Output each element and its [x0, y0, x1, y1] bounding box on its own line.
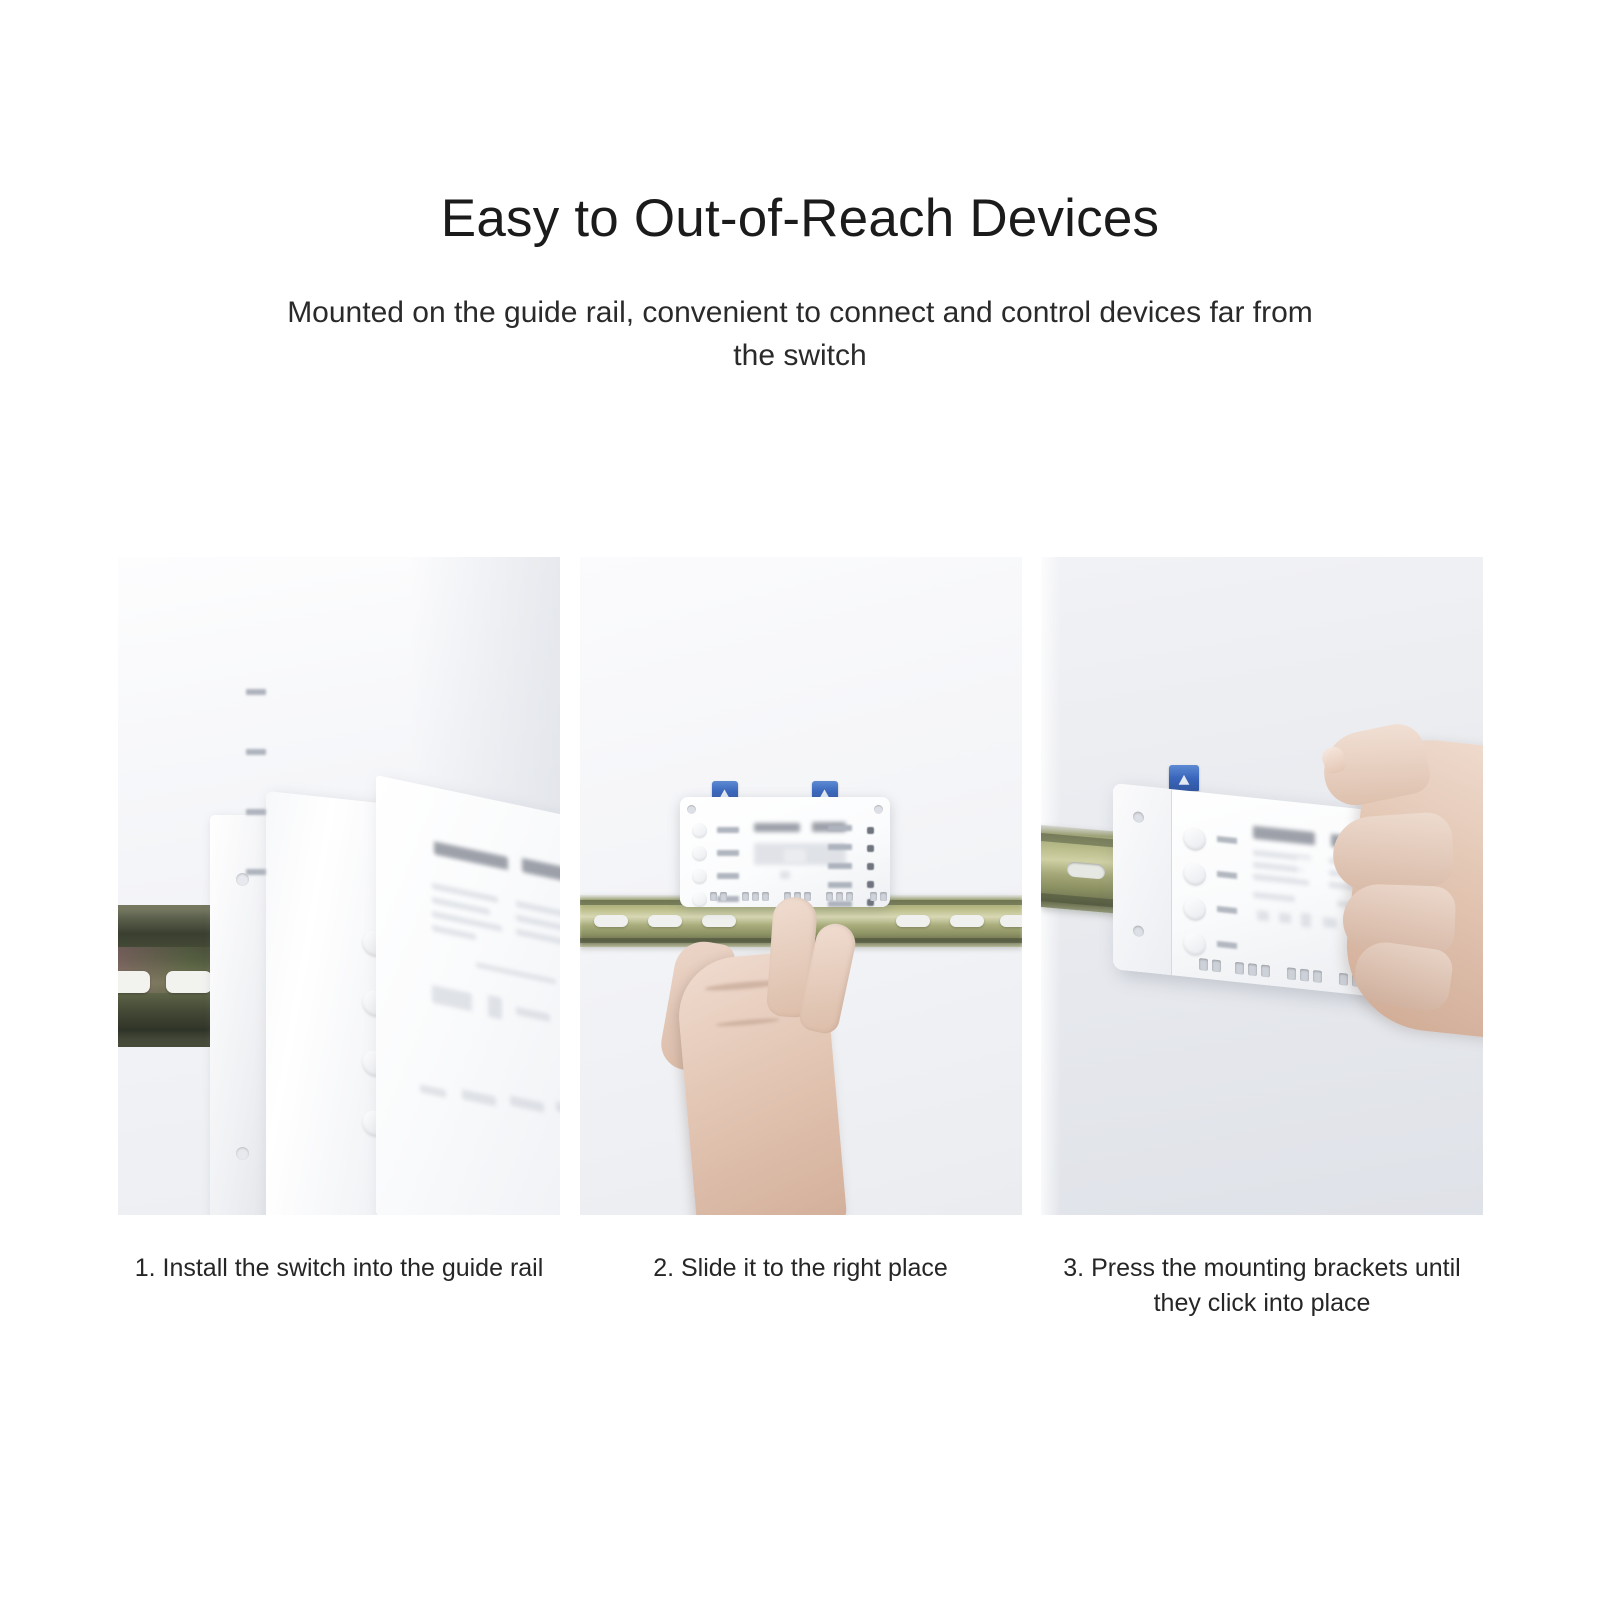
mounting-hole-icon — [1133, 811, 1144, 823]
terminal-label — [246, 689, 266, 695]
skin-crease — [715, 1017, 779, 1028]
terminal-group — [1235, 962, 1270, 978]
device-label-panel — [376, 775, 560, 1215]
device-button — [692, 823, 707, 838]
brand-mark — [754, 823, 800, 832]
button-label — [717, 827, 739, 833]
button-label — [1217, 906, 1237, 914]
output-label — [828, 825, 852, 831]
terminal-marking — [420, 1084, 446, 1098]
rail-slot — [896, 915, 930, 927]
label-highlight — [784, 849, 806, 863]
terminal-label — [246, 749, 266, 755]
label-line — [1253, 892, 1295, 902]
button-label — [717, 850, 739, 856]
certification-mark — [1257, 910, 1269, 921]
step-2-photo — [580, 557, 1022, 1215]
device-button — [692, 846, 707, 861]
step-1-caption: 1. Install the switch into the guide rai… — [118, 1251, 560, 1286]
rail-slot — [594, 915, 628, 927]
output-label — [828, 863, 852, 869]
device-end-cap — [1113, 783, 1172, 975]
step-3: 3. Press the mounting brackets until the… — [1041, 557, 1483, 1320]
device-button — [1183, 826, 1206, 851]
label-line — [516, 929, 560, 948]
mounting-bracket — [1169, 765, 1199, 791]
step-3-caption: 3. Press the mounting brackets until the… — [1041, 1251, 1483, 1320]
certification-mark — [488, 995, 502, 1020]
rail-slot — [1000, 915, 1022, 927]
model-mark — [522, 858, 560, 883]
rail-slot — [118, 971, 150, 993]
device-end-cap — [210, 815, 272, 1215]
led-indicator — [867, 845, 874, 852]
step-2-caption: 2. Slide it to the right place — [580, 1251, 1022, 1286]
mounting-hole-icon — [874, 805, 883, 814]
mounting-hole-icon — [687, 805, 696, 814]
terminal-label — [246, 809, 266, 815]
step-1-photo — [118, 557, 560, 1215]
step-3-photo — [1041, 557, 1483, 1215]
terminal-marking — [510, 1095, 544, 1112]
mounting-hole-icon — [1133, 925, 1144, 937]
led-indicator — [867, 827, 874, 834]
page-subtitle: Mounted on the guide rail, convenient to… — [285, 292, 1315, 377]
page-title: Easy to Out-of-Reach Devices — [0, 190, 1600, 248]
label-line — [432, 925, 476, 940]
little-finger — [1351, 939, 1455, 1014]
terminal-marking — [462, 1089, 496, 1106]
step-1: 1. Install the switch into the guide rai… — [118, 557, 560, 1320]
certification-mark — [516, 1007, 550, 1022]
middle-finger — [1331, 811, 1456, 893]
terminal-label — [246, 869, 266, 875]
button-label — [1217, 836, 1237, 844]
page-header: Easy to Out-of-Reach Devices Mounted on … — [0, 190, 1600, 377]
mounting-hole-icon — [236, 1147, 249, 1160]
hand-pressing-bracket — [1293, 707, 1483, 1057]
installation-steps: 1. Install the switch into the guide rai… — [118, 557, 1483, 1320]
certification-mark — [432, 985, 472, 1012]
rail-slot — [950, 915, 984, 927]
terminal-group — [1199, 958, 1221, 972]
button-label — [1217, 871, 1237, 879]
device-button — [1183, 896, 1206, 921]
brand-mark — [434, 841, 508, 870]
terminal-marking — [556, 1101, 560, 1117]
certification-mark — [1279, 912, 1291, 923]
label-line — [476, 962, 556, 984]
step-2: 2. Slide it to the right place — [580, 557, 1022, 1320]
device-button — [1183, 861, 1206, 886]
led-indicator — [867, 863, 874, 870]
hand-holding-device — [668, 875, 880, 1215]
output-label — [828, 844, 852, 850]
rail-slot — [166, 971, 212, 993]
